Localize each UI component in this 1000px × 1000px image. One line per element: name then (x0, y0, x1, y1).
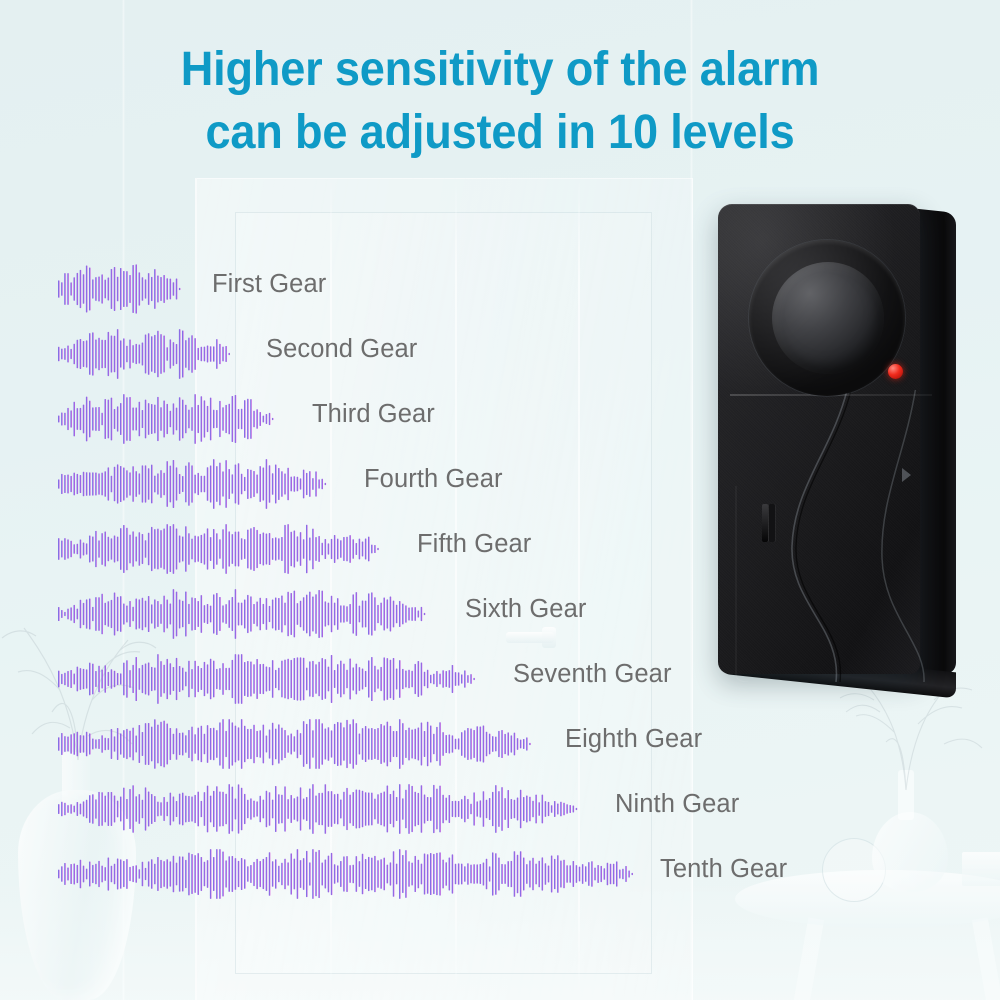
gear-label-6: Sixth Gear (465, 595, 586, 624)
infographic-canvas: Higher sensitivity of the alarm can be a… (0, 0, 1000, 1000)
waveform-gear-7 (58, 649, 477, 709)
gear-label-7: Seventh Gear (513, 660, 672, 689)
device-front-face (718, 204, 920, 674)
direction-triangle-marker (902, 468, 911, 482)
waveform-gear-5 (58, 519, 380, 579)
battery-slot-vent (762, 504, 768, 542)
gear-label-8: Eighth Gear (565, 725, 702, 754)
gear-label-9: Ninth Gear (615, 790, 739, 819)
gear-label-2: Second Gear (266, 335, 417, 364)
waveform-gear-1 (58, 259, 182, 319)
gear-label-5: Fifth Gear (417, 530, 531, 559)
status-led-indicator (888, 364, 903, 379)
waveform-gear-3 (58, 389, 275, 449)
waveform-gear-8 (58, 714, 532, 774)
waveform-gear-2 (58, 324, 232, 384)
gear-label-3: Third Gear (312, 400, 435, 429)
groove-curves (730, 390, 932, 682)
device-texture (718, 204, 920, 674)
device-lower-grooves (730, 390, 932, 682)
waveform-gear-9 (58, 779, 579, 839)
siren-speaker-dome (772, 262, 884, 374)
device-seam-line (730, 394, 932, 396)
gear-row-10: Tenth Gear (0, 844, 1000, 904)
gear-label-1: First Gear (212, 270, 326, 299)
gear-label-10: Tenth Gear (660, 855, 787, 884)
gear-row-9: Ninth Gear (0, 779, 1000, 839)
waveform-gear-4 (58, 454, 328, 514)
waveform-gear-6 (58, 584, 427, 644)
door-window-vibration-alarm (706, 196, 974, 684)
gear-label-4: Fourth Gear (364, 465, 503, 494)
gear-row-8: Eighth Gear (0, 714, 1000, 774)
siren-ring (749, 240, 905, 396)
waveform-gear-10 (58, 844, 635, 904)
